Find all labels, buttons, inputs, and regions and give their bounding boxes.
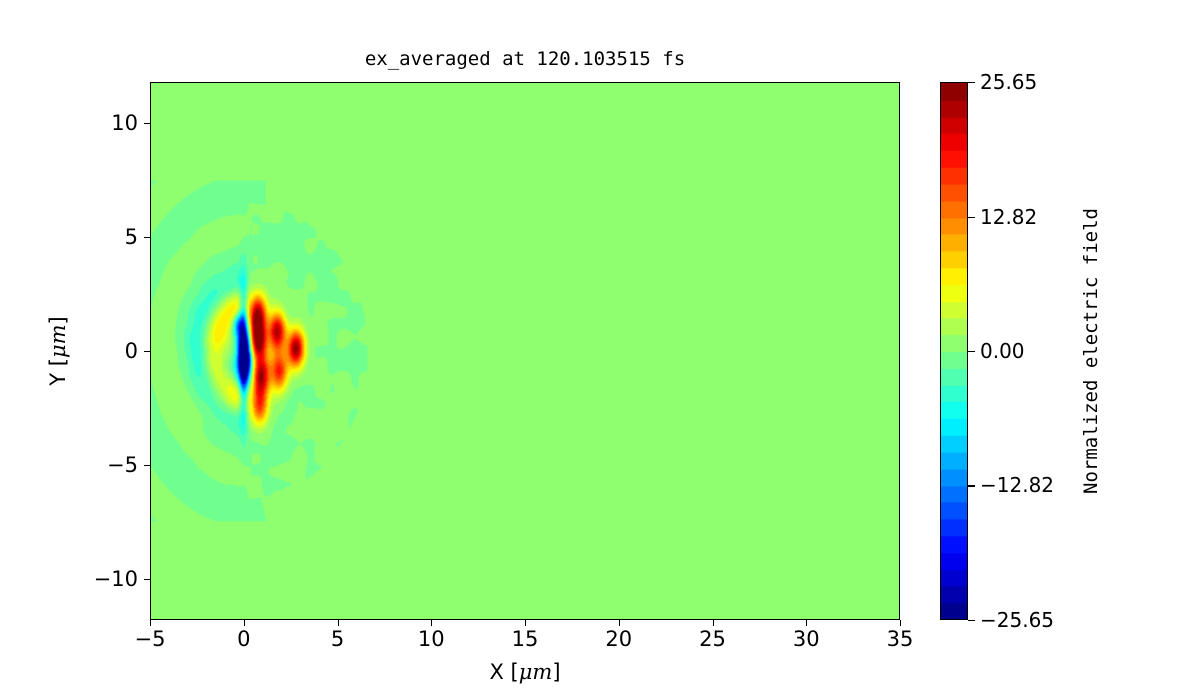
y-tick-mark xyxy=(144,579,150,580)
x-axis-label-suffix: ] xyxy=(552,660,560,684)
colorbar-tick-label: 12.82 xyxy=(980,205,1037,229)
x-tick-label: 0 xyxy=(237,627,250,651)
colorbar-tick-label: 25.65 xyxy=(980,70,1037,94)
x-tick-label: 30 xyxy=(793,627,820,651)
x-axis-label-prefix: X [ xyxy=(489,660,518,684)
x-tick-mark xyxy=(900,620,901,626)
y-tick-mark xyxy=(144,237,150,238)
y-tick-mark xyxy=(144,351,150,352)
x-tick-label: 15 xyxy=(512,627,539,651)
y-tick-mark xyxy=(144,123,150,124)
colorbar-tick-label: −12.82 xyxy=(980,473,1054,497)
x-tick-mark xyxy=(431,620,432,626)
y-axis-label-suffix: ] xyxy=(46,316,70,324)
y-axis-label: Y [μm] xyxy=(46,82,70,620)
plot-title: ex_averaged at 120.103515 fs xyxy=(150,48,900,70)
heatmap-axes[interactable] xyxy=(150,82,900,620)
x-axis-label-units: μm xyxy=(519,660,553,684)
y-tick-label: 5 xyxy=(125,225,138,249)
x-tick-label: 20 xyxy=(605,627,632,651)
y-tick-label: −5 xyxy=(107,453,138,477)
colorbar-tick-label: 0.00 xyxy=(980,339,1025,363)
x-tick-label: −5 xyxy=(135,627,166,651)
colorbar-tick-mark xyxy=(968,620,975,621)
x-tick-mark xyxy=(713,620,714,626)
x-tick-label: 10 xyxy=(418,627,445,651)
x-tick-label: 5 xyxy=(331,627,344,651)
colorbar-gradient xyxy=(941,83,967,619)
y-axis-label-units: μm xyxy=(46,324,70,358)
colorbar-tick-mark xyxy=(968,217,975,218)
y-tick-label: −10 xyxy=(94,567,138,591)
x-tick-mark xyxy=(525,620,526,626)
x-tick-mark xyxy=(619,620,620,626)
y-axis-label-prefix: Y [ xyxy=(46,358,70,386)
colorbar[interactable] xyxy=(940,82,968,620)
x-tick-label: 35 xyxy=(887,627,914,651)
figure-canvas: ex_averaged at 120.103515 fs −5051015202… xyxy=(0,0,1200,700)
x-tick-mark xyxy=(244,620,245,626)
colorbar-tick-label: −25.65 xyxy=(980,608,1054,632)
x-tick-mark xyxy=(338,620,339,626)
x-tick-mark xyxy=(150,620,151,626)
y-tick-label: 10 xyxy=(111,111,138,135)
x-axis-label: X [μm] xyxy=(150,660,900,684)
colorbar-tick-mark xyxy=(968,82,975,83)
field-heatmap-image xyxy=(151,83,899,619)
y-tick-label: 0 xyxy=(125,339,138,363)
colorbar-tick-mark xyxy=(968,485,975,486)
x-tick-mark xyxy=(806,620,807,626)
x-tick-label: 25 xyxy=(699,627,726,651)
y-tick-mark xyxy=(144,465,150,466)
colorbar-tick-mark xyxy=(968,351,975,352)
colorbar-label: Normalized electric field xyxy=(1080,82,1102,620)
